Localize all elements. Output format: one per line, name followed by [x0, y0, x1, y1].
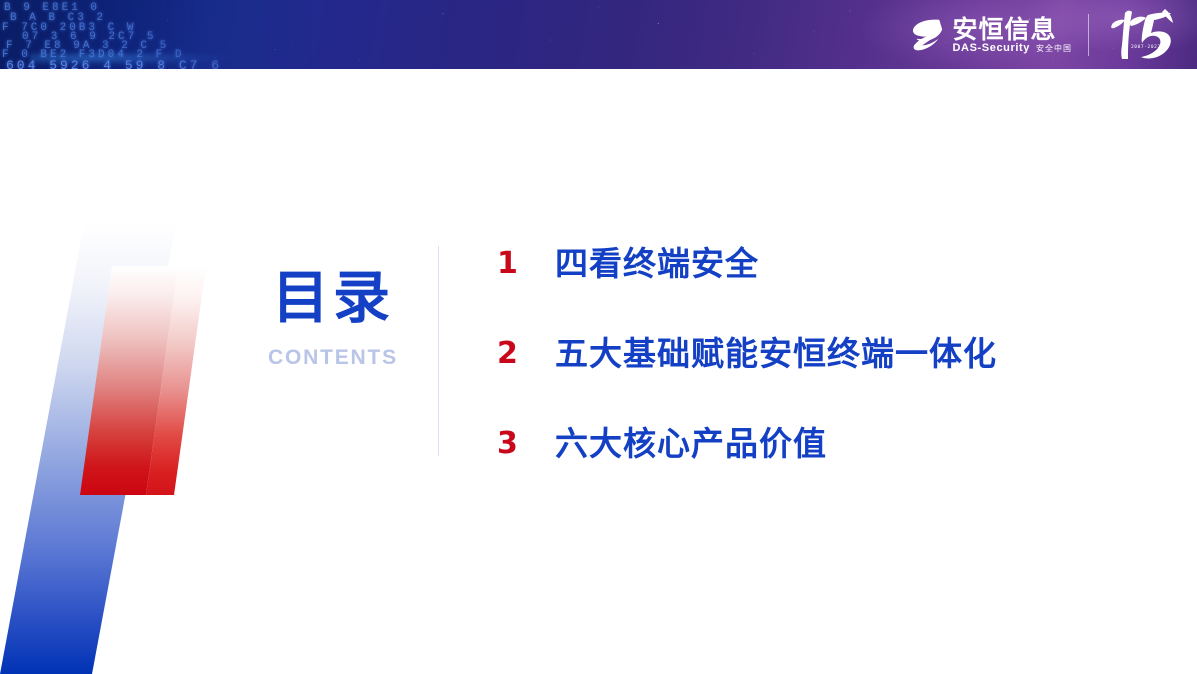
red-stripe-light	[146, 266, 206, 495]
anniversary-15-logo: 2007-2022	[1105, 7, 1179, 63]
anniversary-years-label: 2007-2022	[1131, 45, 1161, 50]
toc-label: 六大核心产品价值	[555, 424, 827, 464]
header-banner: B 9 E8E1 0 B A B C3 2 F 7C0 20B3 C W 07 …	[0, 0, 1197, 69]
logo-lockup: 安恒信息 DAS-Security 安全中国	[908, 8, 1180, 62]
page-title-block: 目录 CONTENTS	[233, 270, 433, 368]
blue-stripe	[0, 224, 176, 674]
toc-number: 3	[497, 429, 555, 459]
toc-item-3[interactable]: 3 六大核心产品价值	[497, 420, 1147, 468]
toc-label: 五大基础赋能安恒终端一体化	[555, 334, 997, 374]
toc-number: 2	[497, 339, 555, 369]
vertical-divider	[438, 246, 439, 456]
toc-label: 四看终端安全	[555, 244, 759, 284]
toc-item-1[interactable]: 1 四看终端安全	[497, 240, 1147, 288]
toc-number: 1	[497, 249, 555, 279]
slide-canvas: B 9 E8E1 0 B A B C3 2 F 7C0 20B3 C W 07 …	[0, 0, 1197, 674]
hex-code-texture: B 9 E8E1 0 B A B C3 2 F 7C0 20B3 C W 07 …	[0, 0, 330, 69]
brand-name-en: DAS-Security	[953, 43, 1031, 54]
toc-item-2[interactable]: 2 五大基础赋能安恒终端一体化	[497, 330, 1147, 378]
anniversary-mark-icon	[1105, 7, 1179, 63]
das-security-swoosh-icon	[908, 17, 946, 53]
brand-text: 安恒信息 DAS-Security 安全中国	[953, 17, 1073, 54]
logo-separator	[1088, 14, 1089, 56]
brand-logo: 安恒信息 DAS-Security 安全中国	[908, 17, 1089, 54]
red-stripe-dark	[80, 266, 178, 495]
table-of-contents: 1 四看终端安全 2 五大基础赋能安恒终端一体化 3 六大核心产品价值	[497, 240, 1147, 468]
page-title: 目录	[233, 270, 433, 327]
brand-subtitle: DAS-Security 安全中国	[953, 43, 1073, 54]
brand-tagline-cn: 安全中国	[1036, 45, 1072, 53]
glow-streak	[30, 51, 240, 65]
brand-name-cn: 安恒信息	[953, 17, 1073, 42]
page-title-en: CONTENTS	[233, 347, 433, 368]
